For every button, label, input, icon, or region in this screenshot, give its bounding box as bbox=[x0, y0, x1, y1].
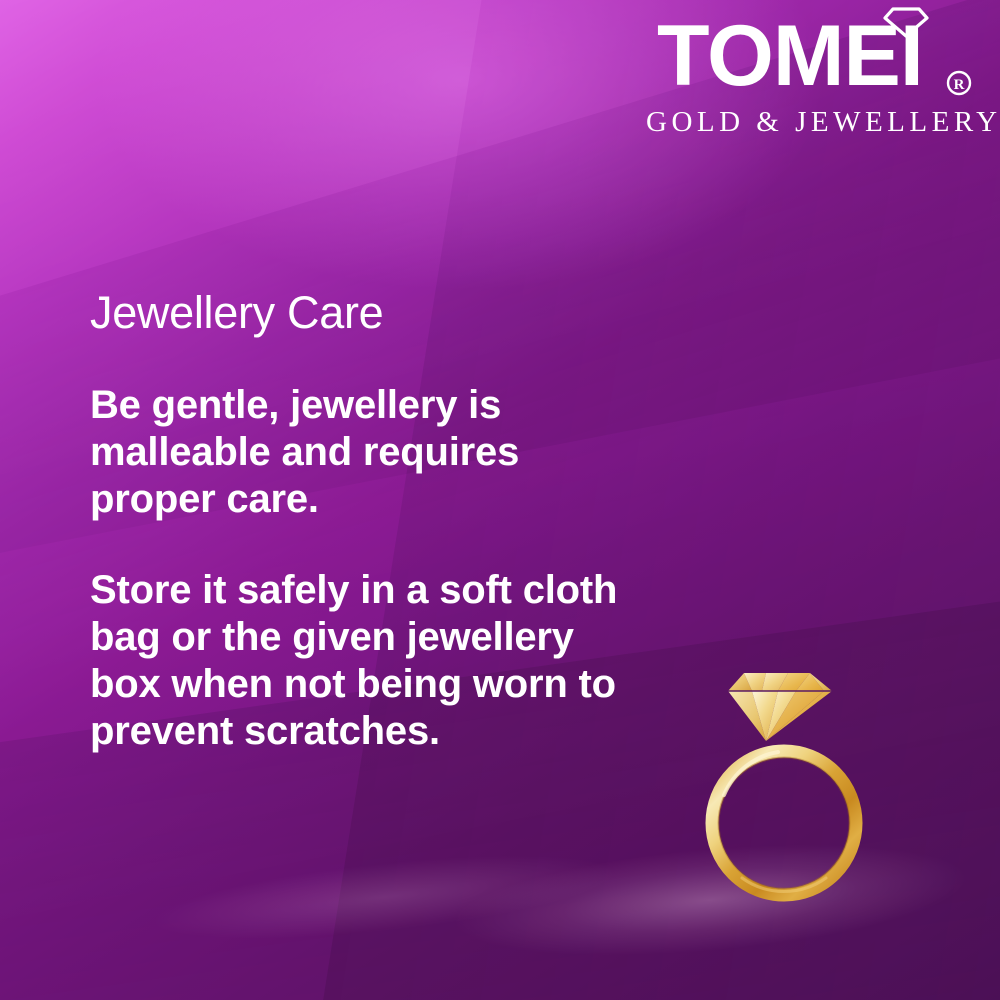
care-paragraph-2: Store it safely in a soft cloth bag or t… bbox=[90, 567, 650, 755]
diamond-outline-icon bbox=[883, 6, 929, 39]
tomei-logo: TOMEI R GOLD & JEWELLERY bbox=[646, 8, 976, 138]
ring-band bbox=[706, 745, 862, 901]
registered-trademark-icon: R bbox=[946, 70, 972, 96]
svg-text:R: R bbox=[954, 77, 965, 93]
ring-floor-glow bbox=[376, 806, 1000, 993]
care-paragraph-1: Be gentle, jewellery is malleable and re… bbox=[90, 382, 650, 523]
ring-floor-glow-secondary bbox=[0, 828, 623, 982]
diamond-gem bbox=[728, 673, 832, 741]
logo-wordmark-row: TOMEI R bbox=[646, 8, 976, 104]
jewellery-care-poster: TOMEI R GOLD & JEWELLERY Jewellery Care … bbox=[0, 0, 1000, 1000]
page-title: Jewellery Care bbox=[90, 288, 670, 338]
copy-block: Jewellery Care Be gentle, jewellery is m… bbox=[90, 288, 670, 755]
logo-tagline: GOLD & JEWELLERY bbox=[646, 106, 976, 138]
diamond-ring-illustration bbox=[700, 645, 880, 910]
